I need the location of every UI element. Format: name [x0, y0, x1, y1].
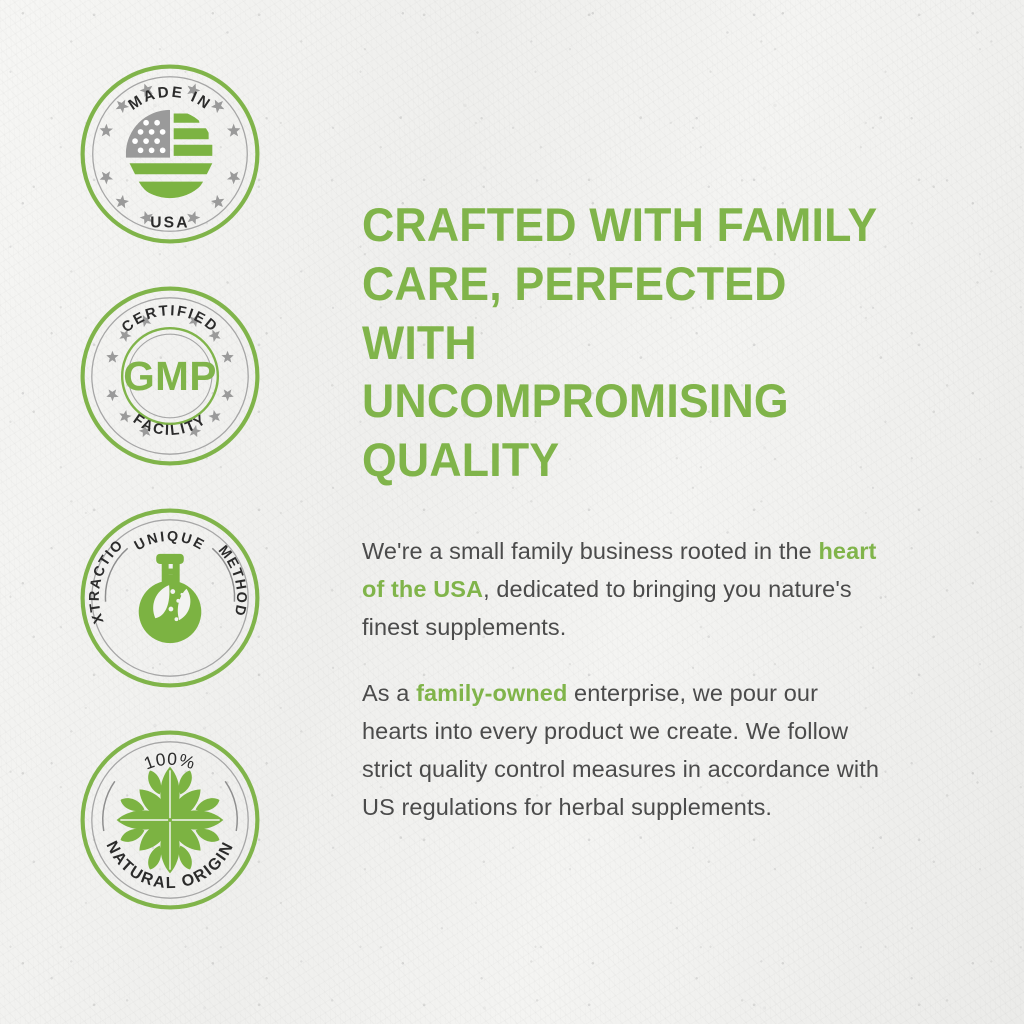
- badge-gmp-certified: CERTIFIED FACILITY GMP: [78, 284, 262, 468]
- badge-unique-extraction: UNIQUE EXTRACTION METHOD: [78, 506, 262, 690]
- badge-bottom-label: FACILITY: [130, 412, 210, 440]
- badge-bottom-label: USA: [150, 215, 190, 232]
- gmp-center-label: GMP: [123, 353, 217, 399]
- badge-top-label: CERTIFIED: [119, 303, 221, 336]
- body-text-run: As a: [362, 680, 416, 706]
- flask-leaf-icon: [139, 554, 202, 643]
- leaf-rosette-icon: [117, 767, 224, 874]
- badge-natural-origin: 100% NATURAL ORIGIN: [78, 728, 262, 912]
- badge-made-in-usa: MADE IN USA: [78, 62, 262, 246]
- badge-top-label: MADE IN: [125, 84, 214, 114]
- body-copy: We're a small family business rooted in …: [362, 532, 924, 826]
- usa-flag-circle-icon: [126, 110, 214, 201]
- para-1: We're a small family business rooted in …: [362, 532, 882, 646]
- highlighted-phrase: family-owned: [416, 680, 567, 706]
- badge-top-label: UNIQUE: [132, 529, 208, 555]
- decor-arc-right: [225, 781, 237, 831]
- content-column: CRAFTED WITH FAMILY CARE, PERFECTED WITH…: [340, 0, 1024, 1024]
- badge-left-label: EXTRACTION: [78, 506, 127, 625]
- badge-column: MADE IN USA: [0, 0, 340, 1024]
- body-text-run: We're a small family business rooted in …: [362, 538, 818, 564]
- trust-badges-panel: MADE IN USA: [0, 0, 1024, 1024]
- para-2: As a family-owned enterprise, we pour ou…: [362, 674, 882, 826]
- decor-arc-left: [103, 781, 115, 831]
- page-title: CRAFTED WITH FAMILY CARE, PERFECTED WITH…: [362, 196, 896, 490]
